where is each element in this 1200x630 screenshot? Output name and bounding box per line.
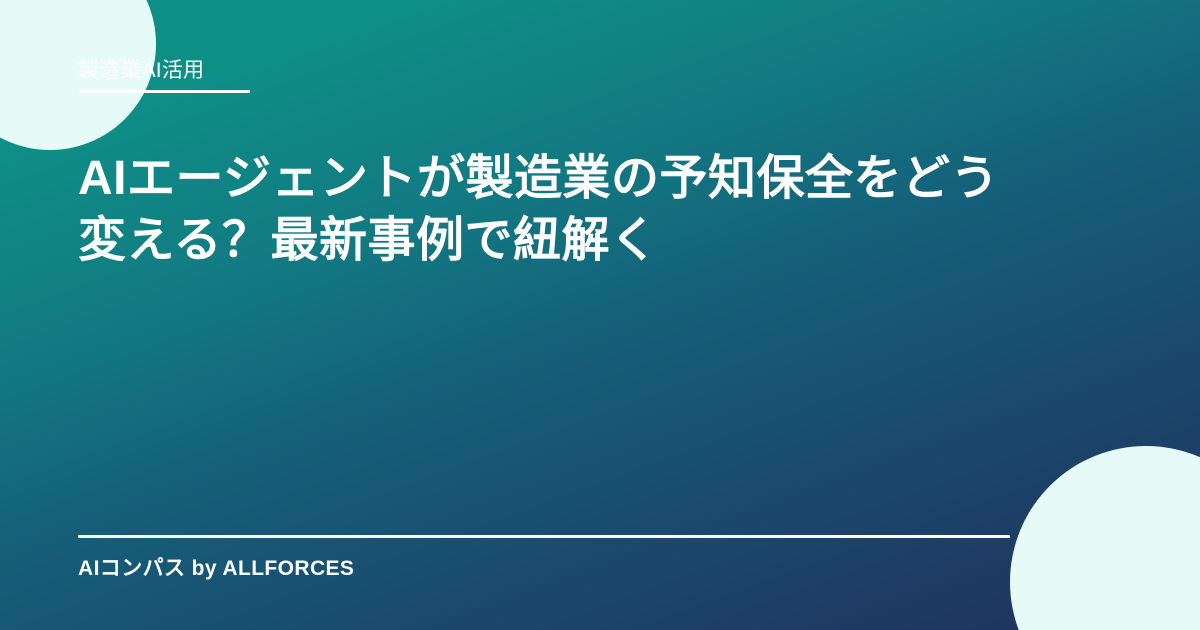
category-underline	[78, 90, 250, 93]
page-title-line-1: AIエージェントが製造業の予知保全をどう	[78, 148, 1038, 210]
footer-divider	[78, 535, 1010, 538]
og-image-card: 製造業AI活用 AIエージェントが製造業の予知保全をどう 変える？最新事例で紐解…	[0, 0, 1200, 630]
card-content: 製造業AI活用 AIエージェントが製造業の予知保全をどう 変える？最新事例で紐解…	[0, 0, 1200, 630]
category-label: 製造業AI活用	[78, 57, 204, 85]
footer-brand-label: AIコンパス by ALLFORCES	[78, 554, 354, 583]
page-title: AIエージェントが製造業の予知保全をどう 変える？最新事例で紐解く	[78, 148, 1038, 273]
category-badge: 製造業AI活用	[78, 57, 718, 93]
page-title-line-2: 変える？最新事例で紐解く	[78, 210, 1038, 272]
